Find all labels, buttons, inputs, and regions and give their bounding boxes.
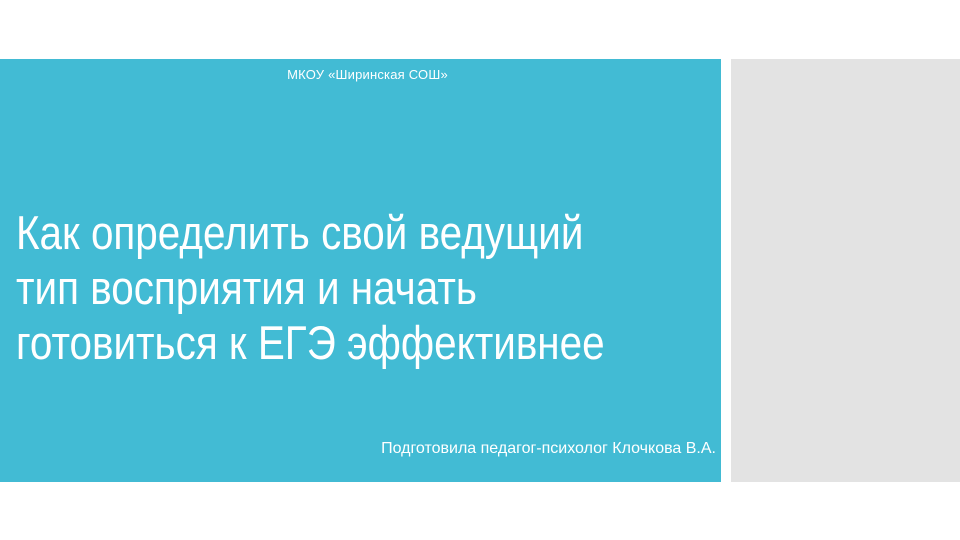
slide-canvas: МКОУ «Ширинская СОШ» Как определить свой… [0,0,960,540]
slide-title-line-3: готовиться к ЕГЭ эффективнее [16,315,618,370]
slide-title-line-2: тип восприятия и начать [16,260,618,315]
slide-subtitle-author: Подготовила педагог-психолог Клочкова В.… [0,440,716,458]
slide-title: Как определить свой ведущий тип восприят… [16,205,618,370]
slide-title-line-1: Как определить свой ведущий [16,205,618,260]
organization-name: МКОУ «Ширинская СОШ» [0,67,735,82]
side-content-placeholder-panel [731,59,960,482]
